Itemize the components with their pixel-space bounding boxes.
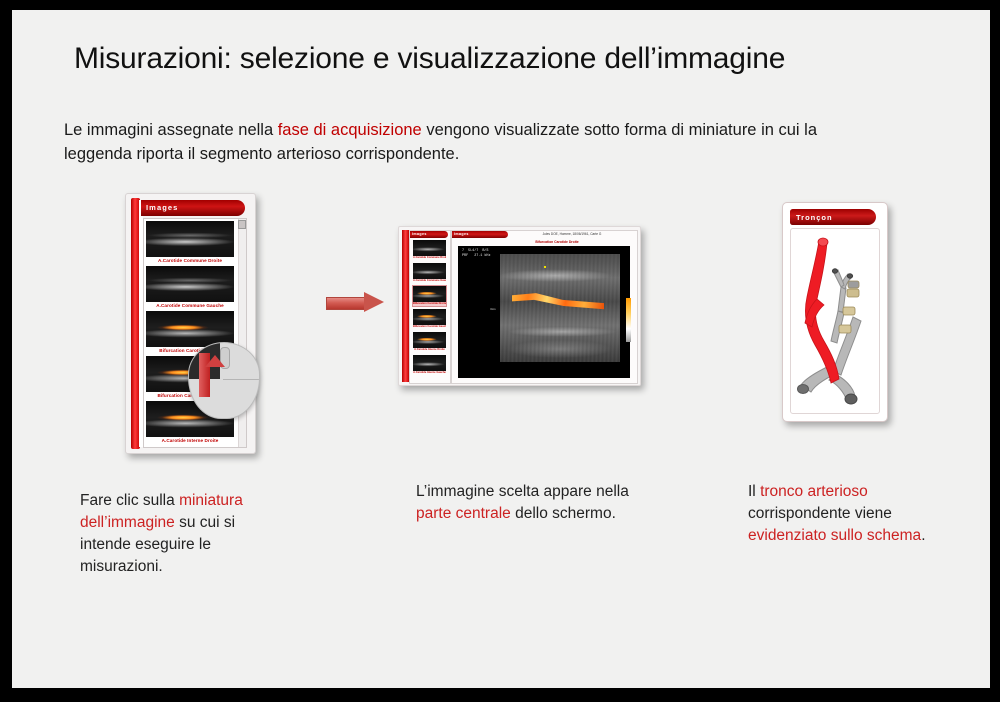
images-panel-header: Images [141, 200, 245, 216]
thumbnail-label: A.Carotide Commune Gauche [413, 279, 446, 283]
thumbnail-image [413, 332, 446, 348]
list-item-selected[interactable]: Bifurcation Carotide Droite [413, 286, 446, 306]
images-panel-header-label: Images [146, 203, 178, 212]
viewer-left-red-bar [402, 230, 409, 382]
depth-label: 3cm [490, 308, 495, 311]
color-doppler-flow [512, 292, 604, 310]
caption-right: Il tronco arterioso corrispondente viene… [748, 481, 963, 547]
thumbnail-label: A.Carotide Interne Gauche [413, 371, 446, 375]
list-item[interactable]: A.Carotide Interne Droite [413, 332, 446, 352]
thumbnail-image [413, 355, 446, 371]
intro-paragraph: Le immagini assegnate nella fase di acqu… [64, 118, 854, 166]
thumbnail-image [146, 221, 234, 257]
viewer-image-title: Bifurcation Carotide Droite [482, 240, 632, 244]
thumbnail-image [146, 266, 234, 302]
thumbnail-image [413, 263, 446, 279]
caption-right-t1: Il [748, 483, 760, 500]
viewer-main-header: Images [452, 231, 508, 238]
arterial-tree-diagram [791, 229, 879, 413]
caption-right-h2: evidenziato sullo schema [748, 527, 921, 544]
viewer-thumbnail-panel-header: Images [410, 231, 448, 238]
ultrasound-image [500, 254, 620, 362]
caption-mid-h1: parte centrale [416, 505, 511, 522]
arrow-head [364, 292, 384, 312]
list-item[interactable]: Bifurcation Carotide Gauche [413, 309, 446, 329]
viewer-main-panel: Images Jules DOE, Homme, 18/06/1961, Car… [451, 230, 638, 384]
thumbnail-image [413, 286, 446, 302]
mouse-click-arrow [199, 353, 210, 397]
list-item[interactable]: A.Carotide Commune Gauche [146, 266, 234, 308]
thumbnail-image [413, 309, 446, 325]
mouse-divider [223, 379, 259, 380]
thumbnail-image [413, 240, 446, 256]
thumbnail-label: Bifurcation Carotide Droite [413, 302, 446, 306]
patient-info: Jules DOE, Homme, 18/06/1961, Carte G [512, 232, 632, 236]
list-item[interactable]: A.Carotide Interne Gauche [413, 355, 446, 375]
troncon-panel-header: Tronçon [790, 209, 876, 225]
viewer-main-header-label: Images [454, 232, 469, 236]
caption-right-t2: corrispondente viene [748, 505, 892, 522]
intro-highlight: fase di acquisizione [278, 121, 422, 139]
thumbnail-label: A.Carotide Commune Droite [146, 257, 234, 263]
list-item[interactable]: A.Carotide Commune Droite [146, 221, 234, 263]
page-title: Misurazioni: selezione e visualizzazione… [74, 42, 924, 76]
caption-mid-t2: dello schermo. [511, 505, 616, 522]
caption-mid: L’immagine scelta appare nella parte cen… [416, 481, 631, 525]
scrollbar-thumb[interactable] [238, 220, 246, 229]
slide-canvas: Misurazioni: selezione e visualizzazione… [12, 10, 990, 688]
slide-frame: Misurazioni: selezione e visualizzazione… [0, 0, 1000, 702]
caption-right-h1: tronco arterioso [760, 483, 868, 500]
list-item[interactable]: A.Carotide Commune Droite [413, 240, 446, 260]
ultrasound-overlay-text: 7 5L4/7 B/S PRF 27.1 kHz [462, 249, 491, 258]
mouse-pointer-icon [188, 342, 260, 419]
thumbnail-label: A.Carotide Commune Droite [413, 256, 446, 260]
highlighted-trunk [805, 238, 839, 383]
flow-arrow [326, 292, 384, 312]
caption-mid-t1: L’immagine scelta appare nella [416, 483, 629, 500]
roi-marker [544, 266, 546, 268]
arrow-shaft [326, 297, 368, 310]
thumbnail-label: A.Carotide Interne Droite [413, 348, 446, 352]
ultrasound-canvas: 7 5L4/7 B/S PRF 27.1 kHz 3cm [458, 246, 630, 378]
thumbnail-label: A.Carotide Commune Gauche [146, 302, 234, 308]
viewer-thumbnail-panel-header-label: Images [412, 232, 427, 236]
viewer-thumbnail-panel[interactable]: Images A.Carotide Commune Droite A.Carot… [409, 230, 451, 384]
color-scale-bar [626, 298, 631, 342]
troncon-panel-header-label: Tronçon [796, 213, 833, 222]
screenshot-image-viewer[interactable]: Images A.Carotide Commune Droite A.Carot… [398, 226, 641, 386]
list-item[interactable]: A.Carotide Commune Gauche [413, 263, 446, 283]
mouse-click-arrow-head [205, 355, 225, 367]
screenshot-troncon[interactable]: Tronçon [782, 202, 888, 422]
troncon-diagram-area [790, 228, 880, 414]
intro-text-part1: Le immagini assegnate nella [64, 121, 278, 139]
thumbnail-label: Bifurcation Carotide Gauche [413, 325, 446, 329]
thumbnail-label: A.Carotide Interne Droite [146, 437, 234, 443]
caption-left-t1: Fare clic sulla [80, 492, 179, 509]
caption-right-t3: . [921, 527, 925, 544]
caption-left: Fare clic sulla miniatura dell’immagine … [80, 490, 280, 578]
